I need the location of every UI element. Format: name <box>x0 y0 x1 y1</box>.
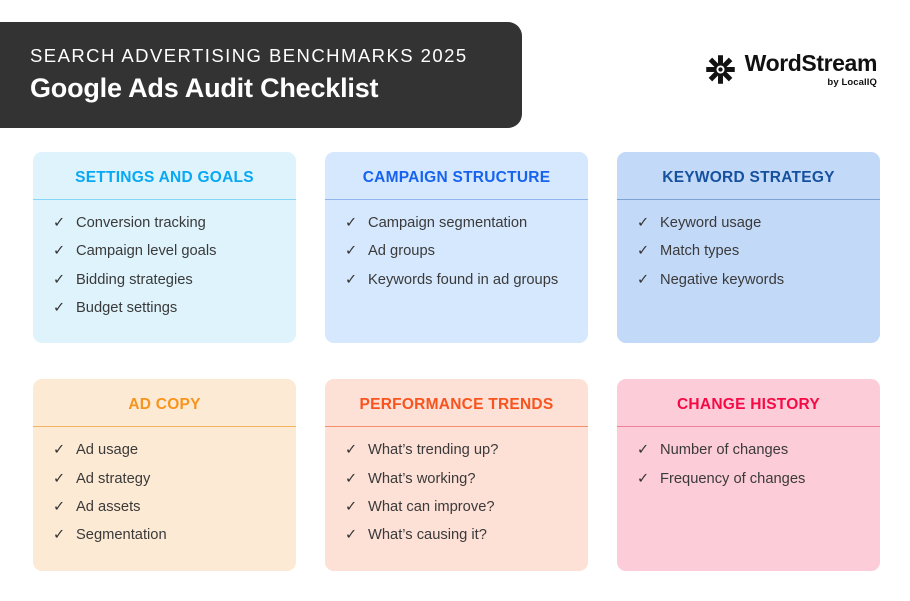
header-eyebrow: SEARCH ADVERTISING BENCHMARKS 2025 <box>30 44 492 67</box>
title-block: SEARCH ADVERTISING BENCHMARKS 2025 Googl… <box>0 22 522 128</box>
checklist-card-ad-copy: AD COPY✓Ad usage✓Ad strategy✓Ad assets✓S… <box>33 379 296 570</box>
card-title: AD COPY <box>33 379 296 426</box>
list-item-label: Frequency of changes <box>660 470 864 489</box>
checklist-card-performance-trends: PERFORMANCE TRENDS✓What’s trending up?✓W… <box>325 379 588 570</box>
list-item-label: Ad strategy <box>76 470 280 489</box>
check-icon: ✓ <box>53 214 66 233</box>
asterisk-starburst-icon <box>705 54 736 85</box>
check-icon: ✓ <box>53 299 66 318</box>
list-item-label: Negative keywords <box>660 271 864 290</box>
card-checklist: ✓Ad usage✓Ad strategy✓Ad assets✓Segmenta… <box>33 427 296 546</box>
list-item-label: Ad assets <box>76 498 280 517</box>
list-item-label: Keyword usage <box>660 214 864 233</box>
check-icon: ✓ <box>637 470 650 489</box>
card-title: KEYWORD STRATEGY <box>617 152 880 199</box>
checklist-card-change-history: CHANGE HISTORY✓Number of changes✓Frequen… <box>617 379 880 570</box>
list-item: ✓Keywords found in ad groups <box>345 271 572 290</box>
card-checklist: ✓Campaign segmentation✓Ad groups✓Keyword… <box>325 200 588 290</box>
check-icon: ✓ <box>53 441 66 460</box>
list-item-label: What’s working? <box>368 470 572 489</box>
checklist-card-settings-and-goals: SETTINGS AND GOALS✓Conversion tracking✓C… <box>33 152 296 343</box>
list-item: ✓Ad assets <box>53 498 280 517</box>
list-item: ✓Conversion tracking <box>53 214 280 233</box>
list-item: ✓Campaign segmentation <box>345 214 572 233</box>
list-item: ✓Ad usage <box>53 441 280 460</box>
page-title: Google Ads Audit Checklist <box>30 71 492 106</box>
list-item: ✓Campaign level goals <box>53 242 280 261</box>
list-item-label: What’s trending up? <box>368 441 572 460</box>
list-item-label: Match types <box>660 242 864 261</box>
list-item-label: Campaign segmentation <box>368 214 572 233</box>
check-icon: ✓ <box>345 441 358 460</box>
check-icon: ✓ <box>345 271 358 290</box>
list-item-label: Ad groups <box>368 242 572 261</box>
list-item: ✓What’s trending up? <box>345 441 572 460</box>
check-icon: ✓ <box>53 498 66 517</box>
card-checklist: ✓Keyword usage✓Match types✓Negative keyw… <box>617 200 880 290</box>
list-item: ✓Ad strategy <box>53 470 280 489</box>
list-item: ✓Frequency of changes <box>637 470 864 489</box>
check-icon: ✓ <box>637 214 650 233</box>
list-item-label: Ad usage <box>76 441 280 460</box>
list-item: ✓Match types <box>637 242 864 261</box>
header: SEARCH ADVERTISING BENCHMARKS 2025 Googl… <box>0 0 910 136</box>
list-item-label: Bidding strategies <box>76 271 280 290</box>
card-checklist: ✓What’s trending up?✓What’s working?✓Wha… <box>325 427 588 546</box>
list-item: ✓What can improve? <box>345 498 572 517</box>
card-checklist: ✓Conversion tracking✓Campaign level goal… <box>33 200 296 319</box>
list-item-label: Campaign level goals <box>76 242 280 261</box>
list-item: ✓Keyword usage <box>637 214 864 233</box>
list-item-label: Segmentation <box>76 526 280 545</box>
brand-logo: WordStream by LocalIQ <box>705 52 877 88</box>
list-item-label: Number of changes <box>660 441 864 460</box>
check-icon: ✓ <box>345 526 358 545</box>
check-icon: ✓ <box>345 470 358 489</box>
check-icon: ✓ <box>637 441 650 460</box>
check-icon: ✓ <box>345 242 358 261</box>
checklist-card-grid: SETTINGS AND GOALS✓Conversion tracking✓C… <box>33 152 879 571</box>
list-item-label: Keywords found in ad groups <box>368 271 572 290</box>
check-icon: ✓ <box>53 242 66 261</box>
check-icon: ✓ <box>53 470 66 489</box>
list-item: ✓What’s working? <box>345 470 572 489</box>
brand-text: WordStream by LocalIQ <box>745 52 877 88</box>
list-item-label: Budget settings <box>76 299 280 318</box>
list-item: ✓Segmentation <box>53 526 280 545</box>
list-item: ✓Bidding strategies <box>53 271 280 290</box>
card-checklist: ✓Number of changes✓Frequency of changes <box>617 427 880 489</box>
checklist-card-keyword-strategy: KEYWORD STRATEGY✓Keyword usage✓Match typ… <box>617 152 880 343</box>
list-item-label: What’s causing it? <box>368 526 572 545</box>
list-item: ✓Budget settings <box>53 299 280 318</box>
card-title: SETTINGS AND GOALS <box>33 152 296 199</box>
card-title: CAMPAIGN STRUCTURE <box>325 152 588 199</box>
check-icon: ✓ <box>53 526 66 545</box>
check-icon: ✓ <box>637 242 650 261</box>
list-item: ✓What’s causing it? <box>345 526 572 545</box>
check-icon: ✓ <box>637 271 650 290</box>
list-item: ✓Number of changes <box>637 441 864 460</box>
checklist-card-campaign-structure: CAMPAIGN STRUCTURE✓Campaign segmentation… <box>325 152 588 343</box>
check-icon: ✓ <box>345 498 358 517</box>
check-icon: ✓ <box>345 214 358 233</box>
list-item-label: What can improve? <box>368 498 572 517</box>
list-item: ✓Ad groups <box>345 242 572 261</box>
card-title: PERFORMANCE TRENDS <box>325 379 588 426</box>
list-item-label: Conversion tracking <box>76 214 280 233</box>
brand-name: WordStream <box>745 52 877 75</box>
list-item: ✓Negative keywords <box>637 271 864 290</box>
card-title: CHANGE HISTORY <box>617 379 880 426</box>
brand-subtitle: by LocalIQ <box>827 78 877 88</box>
check-icon: ✓ <box>53 271 66 290</box>
